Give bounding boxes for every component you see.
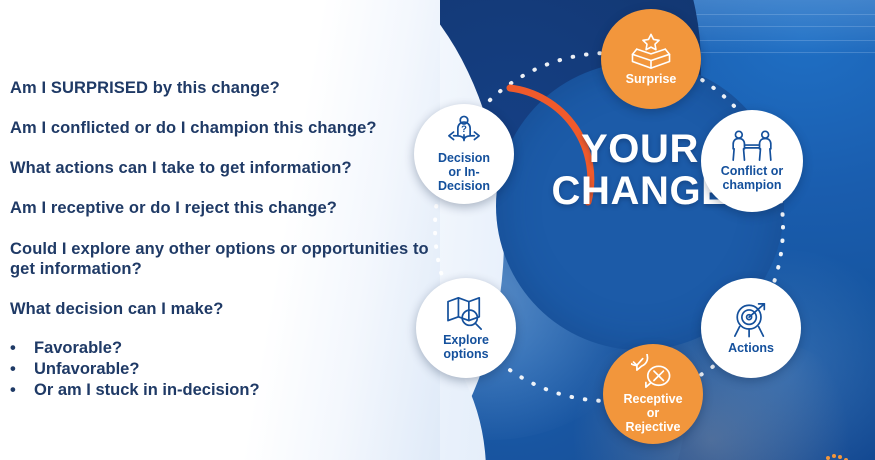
question-surprised: Am I SURPRISED by this change? — [10, 78, 435, 98]
brand-logo: ™ — [818, 448, 867, 460]
node-explore[interactable]: Exploreoptions — [416, 278, 516, 378]
bullet-text: Unfavorable? — [24, 359, 139, 380]
your-change-diagram: YOUR CHANGE Surprise — [396, 0, 875, 460]
node-label: Exploreoptions — [443, 333, 489, 361]
left-text-panel: Am I SURPRISED by this change? Am I conf… — [0, 0, 440, 460]
node-actions[interactable]: Actions — [701, 278, 801, 378]
decision-bullet-list: • Favorable? • Unfavorable? • Or am I st… — [10, 338, 435, 401]
node-receptive[interactable]: ReceptiveorRejective — [603, 344, 703, 444]
node-label: Conflict orchampion — [721, 164, 784, 192]
logo-dots-icon — [818, 448, 852, 460]
svg-text:?: ? — [461, 124, 467, 135]
node-surprise[interactable]: Surprise — [601, 9, 701, 109]
person-arrows-question-icon: ? — [442, 115, 486, 149]
node-decision[interactable]: ? Decisionor In-Decision — [414, 104, 514, 204]
slide-canvas: Am I SURPRISED by this change? Am I conf… — [0, 0, 875, 460]
question-list: Am I SURPRISED by this change? Am I conf… — [10, 78, 435, 401]
bullet-text: Or am I stuck in in-decision? — [24, 380, 260, 401]
question-explore: Could I explore any other options or opp… — [10, 239, 435, 279]
node-label: Decisionor In-Decision — [438, 151, 490, 193]
list-item: • Or am I stuck in in-decision? — [10, 380, 435, 401]
question-decision: What decision can I make? — [10, 299, 435, 319]
question-conflicted: Am I conflicted or do I champion this ch… — [10, 118, 435, 138]
bullet-text: Favorable? — [24, 338, 122, 359]
bullet-marker-icon: • — [10, 380, 16, 401]
node-label: Surprise — [626, 72, 677, 86]
bullet-marker-icon: • — [10, 359, 16, 380]
question-receptive: Am I receptive or do I reject this chang… — [10, 198, 435, 218]
bullet-marker-icon: • — [10, 338, 16, 359]
node-label: ReceptiveorRejective — [623, 392, 682, 434]
node-label: Actions — [728, 341, 774, 355]
node-conflict[interactable]: Conflict orchampion — [701, 110, 803, 212]
question-actions: What actions can I take to get informati… — [10, 158, 435, 178]
list-item: • Favorable? — [10, 338, 435, 359]
speech-check-x-icon — [631, 354, 675, 390]
target-arrow-icon — [731, 301, 771, 339]
two-people-icon — [729, 130, 775, 162]
open-box-star-icon — [630, 32, 672, 70]
list-item: • Unfavorable? — [10, 359, 435, 380]
map-magnifier-icon — [445, 295, 487, 331]
